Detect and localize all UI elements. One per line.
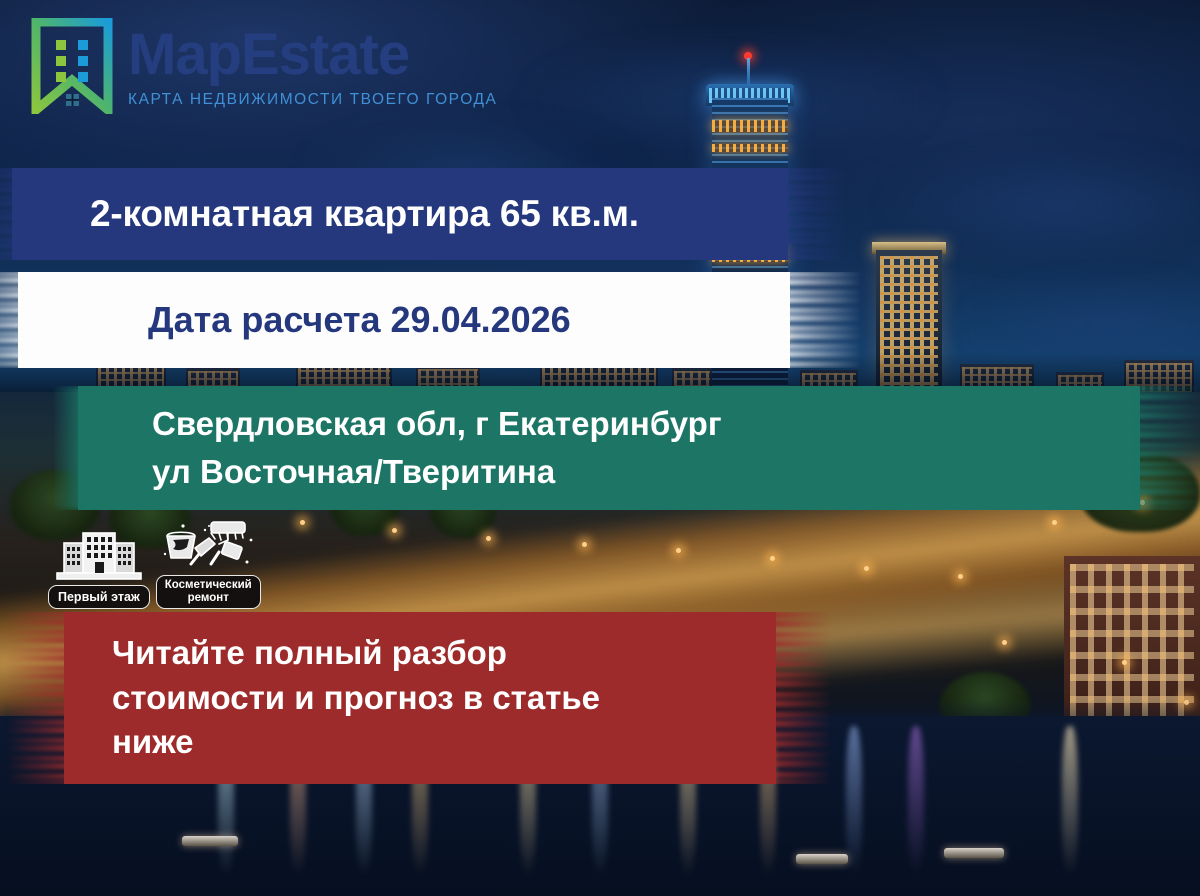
street-lamp (770, 556, 775, 561)
badge-label: Косметический ремонт (156, 575, 261, 609)
water-reflection (846, 726, 862, 876)
water-reflection (1062, 726, 1078, 876)
street-lamp (1002, 640, 1007, 645)
street-lamp (300, 520, 305, 525)
street-lamp (958, 574, 963, 579)
badge-label: Первый этаж (48, 585, 150, 609)
band-brush-edge-left (6, 612, 70, 784)
badge-label-line-1: Косметический (165, 579, 252, 591)
street-lamp (1122, 660, 1127, 665)
logo-title: MapEstate (128, 26, 497, 84)
calculation-date-text: Дата расчета 29.04.2026 (148, 299, 790, 341)
badge-art (53, 530, 145, 582)
address-band: Свердловская обл, г Екатеринбург ул Вост… (78, 386, 1140, 510)
property-title-text: 2-комнатная квартира 65 кв.м. (90, 193, 788, 235)
address-line-1: Свердловская обл, г Екатеринбург (152, 403, 1140, 445)
building-icon (53, 530, 145, 582)
river-boat (944, 848, 1004, 858)
street-lamp (486, 536, 491, 541)
band-brush-edge-right (782, 168, 848, 260)
poster-canvas: MapEstate КАРТА НЕДВИЖИМОСТИ ТВОЕГО ГОРО… (0, 0, 1200, 896)
calculation-date-band: Дата расчета 29.04.2026 (18, 272, 790, 368)
badge-label-line-2: ремонт (188, 592, 229, 604)
cta-line-2: стоимости и прогноз в статье (112, 677, 776, 720)
street-lamp (392, 528, 397, 533)
paint-roller-brush-icon (159, 520, 257, 572)
river-boat (182, 836, 238, 846)
property-title-band: 2-комнатная квартира 65 кв.м. (12, 168, 788, 260)
band-brush-edge-left (52, 386, 86, 510)
badge-first-floor: Первый этаж (48, 530, 150, 609)
badge-art (159, 520, 257, 572)
logo-tagline: КАРТА НЕДВИЖИМОСТИ ТВОЕГО ГОРОДА (128, 91, 497, 109)
brand-logo[interactable]: MapEstate КАРТА НЕДВИЖИМОСТИ ТВОЕГО ГОРО… (30, 18, 497, 114)
tower-mast (747, 58, 750, 86)
band-brush-edge-left (0, 168, 18, 260)
cta-line-1: Читайте полный разбор (112, 632, 776, 675)
band-brush-edge-right (782, 272, 862, 368)
street-lamp (864, 566, 869, 571)
feature-badges: Первый этаж (48, 520, 261, 609)
band-brush-edge-right (770, 612, 832, 784)
band-brush-edge-left (0, 272, 26, 368)
river-boat (796, 854, 848, 864)
badge-cosmetic-renovation: Косметический ремонт (156, 520, 261, 609)
street-lamp (582, 542, 587, 547)
address-line-2: ул Восточная/Тверитина (152, 451, 1140, 493)
street-lamp (676, 548, 681, 553)
cta-band[interactable]: Читайте полный разбор стоимости и прогно… (64, 612, 776, 784)
cta-line-3: ниже (112, 721, 776, 764)
bookmark-building-icon (30, 18, 114, 114)
band-brush-edge-right (1132, 386, 1200, 510)
water-reflection (908, 726, 924, 876)
street-lamp (1052, 520, 1057, 525)
